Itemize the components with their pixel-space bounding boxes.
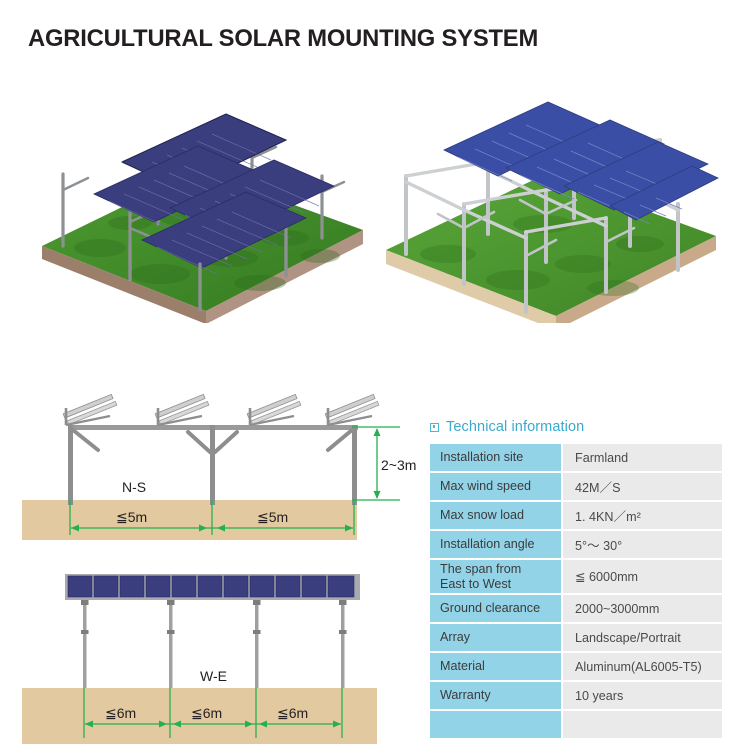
row-value: Aluminum(AL6005-T5): [563, 653, 722, 680]
row-value: ≦ 6000mm: [563, 560, 722, 593]
table-row-empty: [430, 711, 722, 738]
table-row: Array Landscape/Portrait: [430, 624, 722, 651]
ns-orientation-label: N-S: [122, 479, 146, 495]
diagram-west-east-elevation: W-E ≦6m ≦6m ≦6m: [22, 556, 422, 744]
row-value: Landscape/Portrait: [563, 624, 722, 651]
row-label-line1: The span from: [440, 562, 561, 576]
table-row: Max wind speed 42M／S: [430, 473, 722, 500]
row-label: [430, 711, 561, 738]
row-value: [563, 711, 722, 738]
we-span-label-2: ≦6m: [191, 705, 222, 721]
table-row: Installation angle 5°～ 30°: [430, 531, 722, 558]
panel-row: [65, 574, 360, 600]
table-row: Material Aluminum(AL6005-T5): [430, 653, 722, 680]
we-span-label-3: ≦6m: [277, 705, 308, 721]
row-label: Warranty: [430, 682, 561, 709]
ns-height-label: 2~3m: [381, 457, 416, 473]
row-label: Installation site: [430, 444, 561, 471]
table-row: The span from East to West ≦ 6000mm: [430, 560, 722, 593]
row-label: Array: [430, 624, 561, 651]
render-agricultural-array-structure: [378, 78, 723, 323]
table-row: Ground clearance 2000~3000mm: [430, 595, 722, 622]
row-label: The span from East to West: [430, 560, 561, 593]
technical-information-panel: Technical information Installation site …: [430, 418, 722, 738]
render-agricultural-array-portrait: [30, 78, 375, 323]
row-label: Max wind speed: [430, 473, 561, 500]
page-title: AGRICULTURAL SOLAR MOUNTING SYSTEM: [28, 25, 538, 53]
row-value: 10 years: [563, 682, 722, 709]
ns-span-label-2: ≦5m: [257, 509, 288, 525]
technical-information-heading: Technical information: [430, 418, 722, 436]
row-value: Farmland: [563, 444, 722, 471]
technical-information-table: Installation site Farmland Max wind spee…: [430, 444, 722, 738]
table-row: Installation site Farmland: [430, 444, 722, 471]
row-label-line2: East to West: [440, 577, 561, 591]
row-value: 2000~3000mm: [563, 595, 722, 622]
row-label: Material: [430, 653, 561, 680]
soil-band: [22, 500, 357, 540]
we-span-label-1: ≦6m: [105, 705, 136, 721]
technical-information-title: Technical information: [446, 419, 584, 435]
row-value: 42M／S: [563, 473, 722, 500]
row-label: Installation angle: [430, 531, 561, 558]
table-row: Max snow load 1. 4KN／m²: [430, 502, 722, 529]
row-label: Max snow load: [430, 502, 561, 529]
square-bullet-icon: [430, 423, 439, 432]
row-value: 5°～ 30°: [563, 531, 722, 558]
ns-span-label-1: ≦5m: [116, 509, 147, 525]
diagram-north-south-elevation: 2~3m N-S ≦5m ≦5m: [22, 392, 422, 540]
row-label: Ground clearance: [430, 595, 561, 622]
row-value: 1. 4KN／m²: [563, 502, 722, 529]
we-orientation-label: W-E: [200, 668, 227, 684]
table-row: Warranty 10 years: [430, 682, 722, 709]
